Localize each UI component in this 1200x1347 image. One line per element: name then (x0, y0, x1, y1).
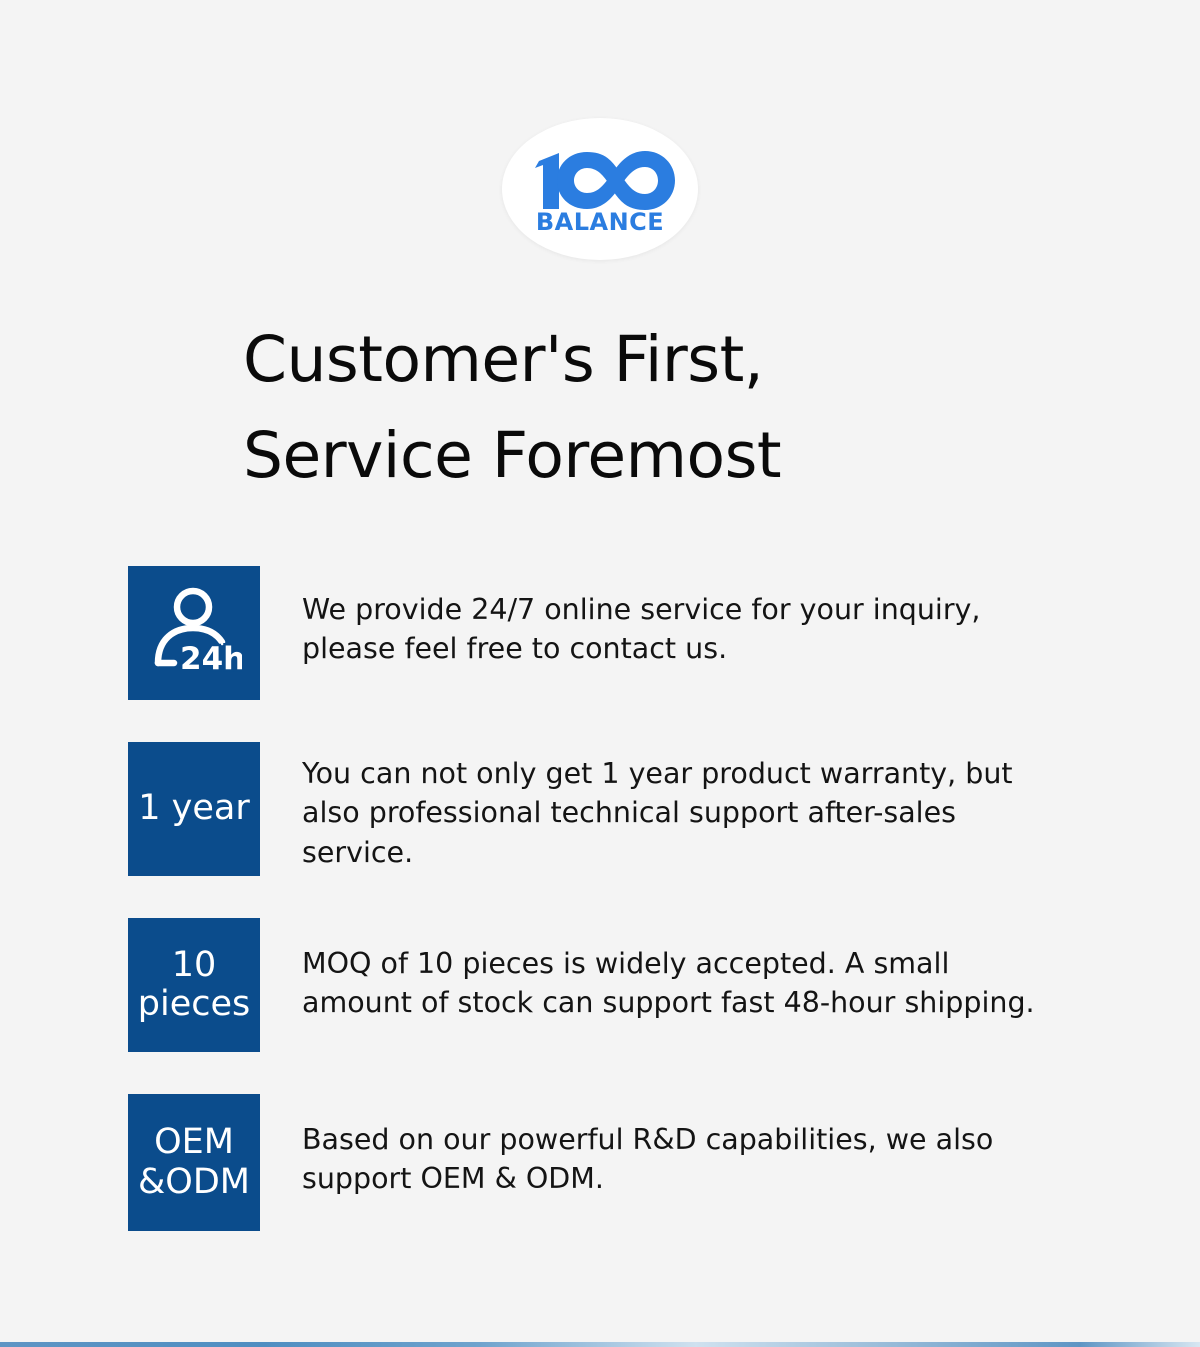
feature-text-24h: We provide 24/7 online service for your … (260, 566, 1108, 669)
person-24h-icon: 24h (146, 585, 242, 682)
infinity-100-logo-icon (525, 149, 675, 216)
brand-logo: BALANCE (0, 118, 1200, 260)
feature-row-moq: 10 pieces MOQ of 10 pieces is widely acc… (128, 918, 1108, 1052)
feature-row-24h: 24h We provide 24/7 online service for y… (128, 566, 1108, 700)
logo-wordmark: BALANCE (536, 210, 664, 234)
logo-oval-badge: BALANCE (502, 118, 698, 260)
page-title-line-2: Service Foremost (243, 408, 1103, 504)
badge-10-pieces-label: 10 pieces (138, 946, 251, 1024)
page-title-line-1: Customer's First, (243, 323, 763, 396)
badge-10-pieces: 10 pieces (128, 918, 260, 1052)
feature-text-moq: MOQ of 10 pieces is widely accepted. A s… (260, 918, 1108, 1023)
feature-row-oem-odm: OEM &ODM Based on our powerful R&D capab… (128, 1094, 1108, 1231)
feature-text-warranty: You can not only get 1 year product warr… (260, 742, 1108, 872)
badge-24h-label: 24h (180, 641, 242, 677)
feature-row-warranty: 1 year You can not only get 1 year produ… (128, 742, 1108, 876)
promo-page: BALANCE Customer's First, Service Foremo… (0, 0, 1200, 1347)
footer-divider (0, 1342, 1200, 1347)
badge-1-year: 1 year (128, 742, 260, 876)
badge-oem-odm: OEM &ODM (128, 1094, 260, 1231)
badge-oem-odm-label: OEM &ODM (138, 1123, 250, 1201)
feature-list: 24h We provide 24/7 online service for y… (128, 566, 1108, 1273)
badge-1-year-label: 1 year (138, 789, 249, 828)
feature-text-oem-odm: Based on our powerful R&D capabilities, … (260, 1094, 1108, 1199)
badge-24h: 24h (128, 566, 260, 700)
page-title: Customer's First, Service Foremost (243, 312, 1103, 504)
